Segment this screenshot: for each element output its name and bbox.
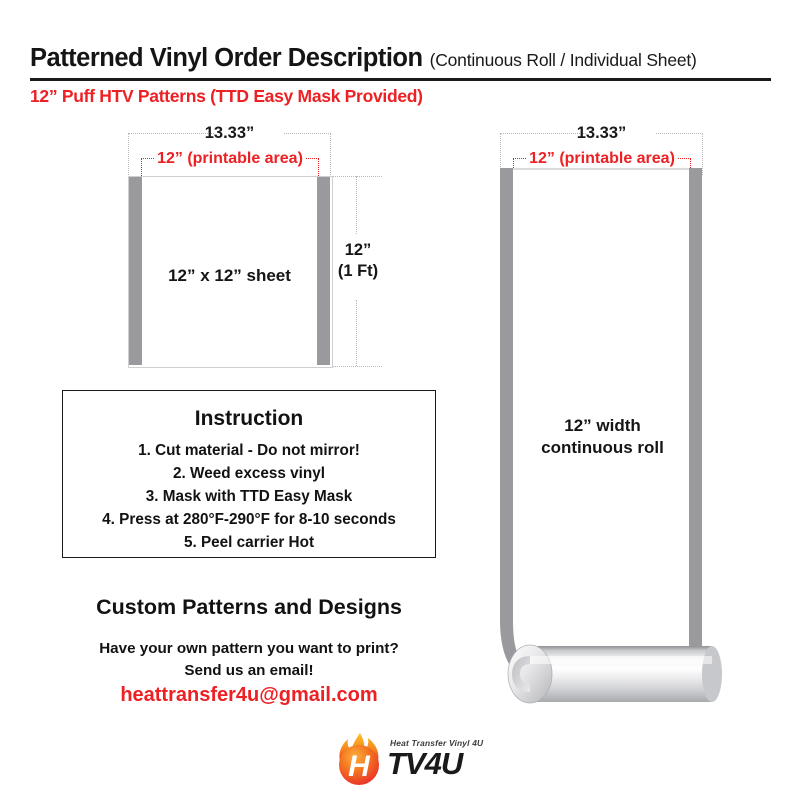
contact-email[interactable]: heattransfer4u@gmail.com: [52, 684, 446, 707]
svg-text:H: H: [348, 750, 371, 783]
sheet-height-label-line1: 12”: [330, 240, 386, 261]
custom-patterns-subtext-line1: Have your own pattern you want to print?: [52, 638, 446, 660]
header-divider: [30, 78, 771, 81]
sheet-total-width-label: 13.33”: [128, 124, 331, 143]
custom-patterns-heading: Custom Patterns and Designs: [62, 595, 436, 620]
logo-wordmark: TV4U: [387, 746, 462, 782]
page-header: Patterned Vinyl Order Description (Conti…: [30, 44, 770, 73]
sheet-printable-width-label: 12” (printable area): [141, 150, 319, 168]
flame-icon: H: [330, 730, 388, 788]
htv4u-logo: H Heat Transfer Vinyl 4U TV4U: [330, 730, 495, 790]
custom-patterns-subtext-line2: Send us an email!: [52, 660, 446, 682]
roll-caption: 12” width continuous roll: [505, 415, 700, 459]
sheet-height-tick-upper: [356, 176, 357, 234]
instruction-title: Instruction: [63, 407, 435, 431]
instruction-step: 4. Press at 280°F-290°F for 8-10 seconds: [63, 508, 435, 531]
roll-caption-line1: 12” width: [505, 415, 700, 437]
sheet-height-label: 12” (1 Ft): [330, 240, 386, 282]
instruction-step: 5. Peel carrier Hot: [63, 531, 435, 554]
page-title: Patterned Vinyl Order Description: [30, 44, 423, 73]
sheet-height-line-bottom: [330, 366, 382, 367]
sheet-caption: 12” x 12” sheet: [128, 266, 331, 286]
instruction-box: Instruction 1. Cut material - Do not mir…: [62, 390, 436, 558]
instruction-step-list: 1. Cut material - Do not mirror! 2. Weed…: [63, 439, 435, 554]
instruction-step: 2. Weed excess vinyl: [63, 462, 435, 485]
roll-caption-line2: continuous roll: [505, 437, 700, 459]
roll-total-width-label: 13.33”: [500, 124, 703, 143]
instruction-step: 1. Cut material - Do not mirror!: [63, 439, 435, 462]
roll-printable-width-label: 12” (printable area): [513, 150, 691, 168]
page-title-subtitle: (Continuous Roll / Individual Sheet): [430, 50, 697, 71]
title-row: Patterned Vinyl Order Description (Conti…: [30, 44, 770, 73]
sheet-height-label-line2: (1 Ft): [330, 261, 386, 282]
header-red-subtitle: 12” Puff HTV Patterns (TTD Easy Mask Pro…: [30, 86, 423, 107]
custom-patterns-subtext: Have your own pattern you want to print?…: [52, 638, 446, 682]
instruction-step: 3. Mask with TTD Easy Mask: [63, 485, 435, 508]
sheet-height-tick-lower: [356, 300, 357, 366]
order-description-graphic: Patterned Vinyl Order Description (Conti…: [0, 0, 801, 800]
